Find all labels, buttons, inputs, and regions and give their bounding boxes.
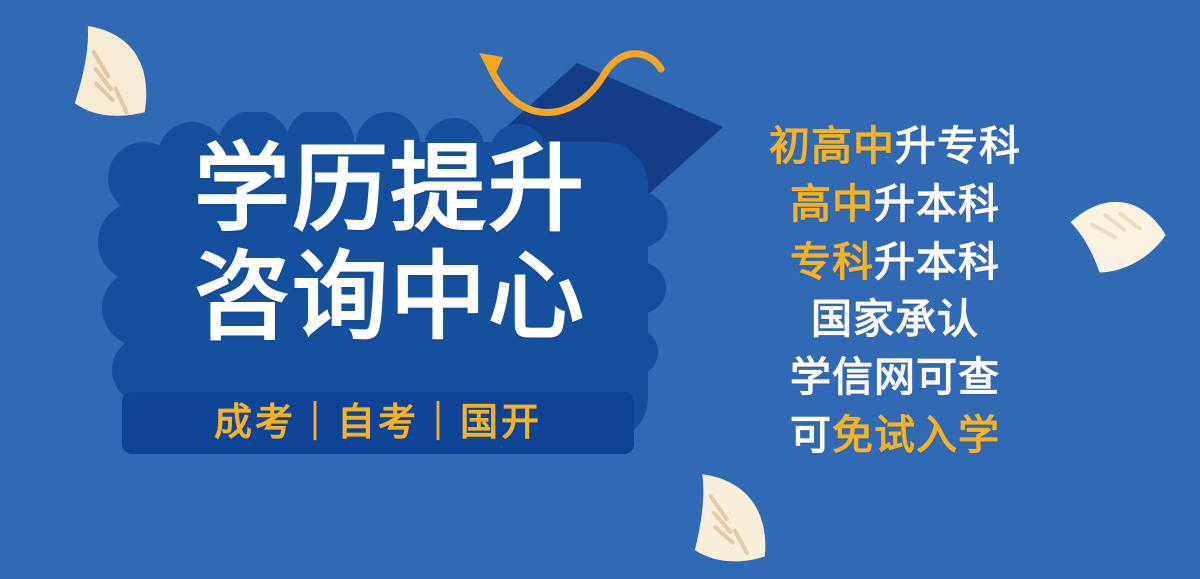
sub-banner-text: 成考｜自考｜国开 <box>214 404 542 442</box>
promo-banner: 学历提升 咨询中心 成考｜自考｜国开 初高中升专科 高中升本科 专科升本科 国家… <box>0 0 1200 579</box>
paper-sheet-icon-right <box>1066 182 1176 287</box>
feature-row: 专科升本科 <box>790 242 1000 283</box>
feature-row: 学信网可查 <box>790 357 1000 398</box>
tassel-knot-icon <box>479 53 503 79</box>
sub-banner: 成考｜自考｜国开 <box>122 392 634 454</box>
feature-accent-text: 专科 <box>790 239 874 285</box>
feature-accent-text: 高中 <box>790 181 874 227</box>
feature-plain-text: 可 <box>790 412 832 458</box>
feature-plain-text: 国家承认 <box>811 296 979 342</box>
headline-line-1: 学历提升 <box>194 138 586 242</box>
feature-plain-text: 升本科 <box>874 181 1000 227</box>
feature-list: 初高中升专科 高中升本科 专科升本科 国家承认 学信网可查 可免试入学 <box>735 126 1055 456</box>
feature-accent-text: 初高中 <box>769 123 895 169</box>
paper-sheet-icon-bottom <box>676 470 786 578</box>
paper-sheet-icon-top-left <box>55 25 165 140</box>
feature-row: 高中升本科 <box>790 184 1000 225</box>
feature-plain-text: 升本科 <box>874 239 1000 285</box>
feature-accent-text: 免试入学 <box>832 412 1000 458</box>
feature-row: 可免试入学 <box>790 415 1000 456</box>
feature-row: 初高中升专科 <box>769 126 1021 167</box>
headline-line-2: 咨询中心 <box>194 246 586 350</box>
feature-row: 国家承认 <box>811 299 979 340</box>
feature-plain-text: 学信网可查 <box>790 354 1000 400</box>
feature-plain-text: 升专科 <box>895 123 1021 169</box>
